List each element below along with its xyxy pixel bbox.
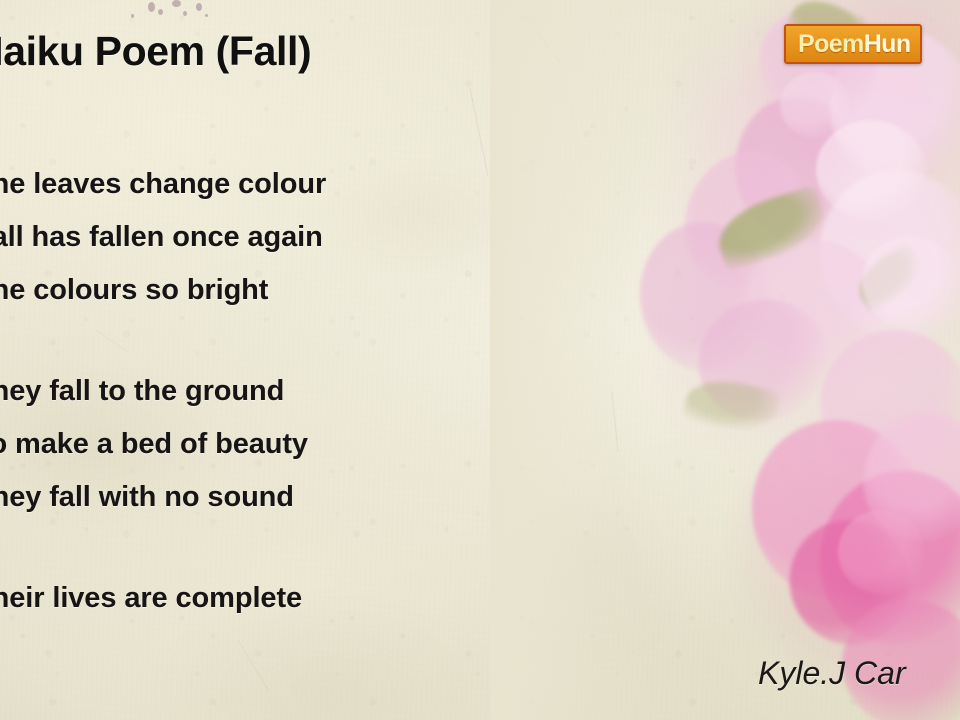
- logo-text: PoemHun: [798, 30, 910, 59]
- poem-line: The leaves change colour: [0, 158, 326, 211]
- poem-slide: Haiku Poem (Fall) The leaves change colo…: [0, 0, 960, 720]
- logo-text-accent: Hun: [864, 30, 911, 58]
- poem-line: To make a bed of beauty: [0, 418, 308, 471]
- poem-stanza: Their lives are complete: [0, 572, 302, 625]
- poemhunter-logo[interactable]: PoemHun: [784, 24, 922, 64]
- poem-stanza: The leaves change colour Fall has fallen…: [0, 158, 326, 317]
- poem-line: The colours so bright: [0, 264, 326, 317]
- poem-line: Fall has fallen once again: [0, 211, 326, 264]
- poem-line: They fall with no sound: [0, 471, 308, 524]
- poem-stanza: They fall to the ground To make a bed of…: [0, 365, 308, 524]
- poem-line: They fall to the ground: [0, 365, 308, 418]
- logo-text-primary: Poem: [798, 30, 864, 58]
- author-signature: Kyle.J Car: [758, 655, 906, 692]
- page-title: Haiku Poem (Fall): [0, 28, 311, 75]
- poem-text-layer: Haiku Poem (Fall) The leaves change colo…: [0, 0, 960, 720]
- poem-line: Their lives are complete: [0, 572, 302, 625]
